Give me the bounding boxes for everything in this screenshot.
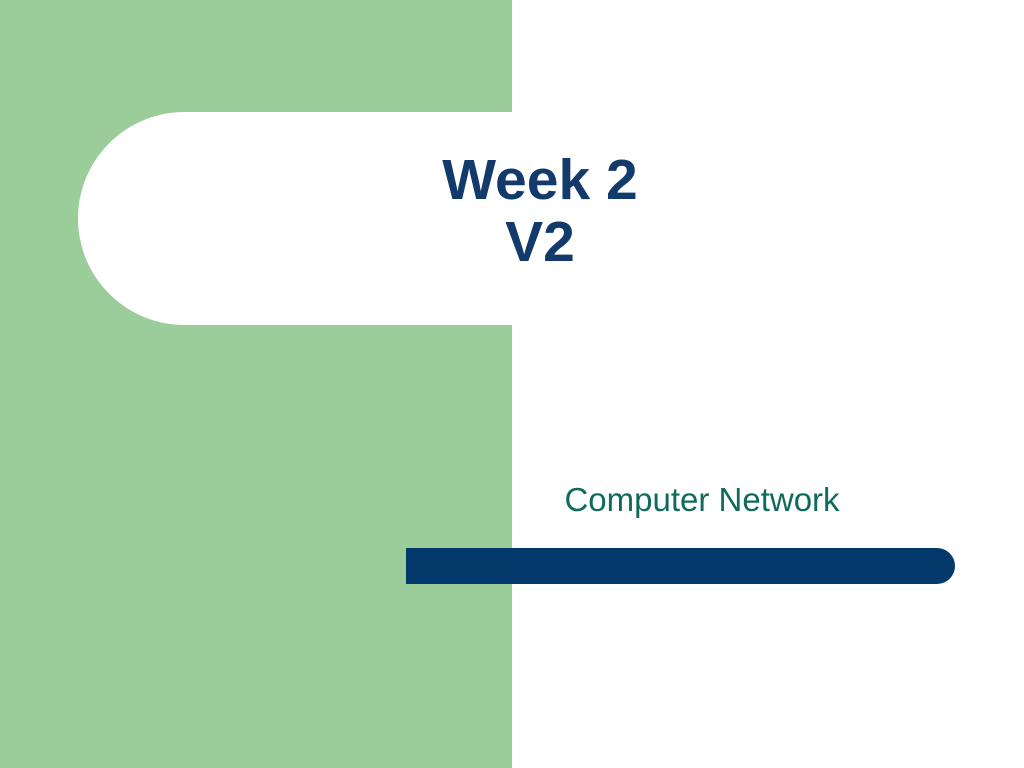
title-line-2: V2 [300,212,780,274]
title-slide: Week 2 V2 Computer Network [0,0,1024,768]
subtitle-text: Computer Network [564,481,839,518]
page-title: Week 2 V2 [300,150,780,273]
navy-accent-bar [406,548,955,584]
title-line-1: Week 2 [300,150,780,212]
subtitle: Computer Network [462,481,942,519]
